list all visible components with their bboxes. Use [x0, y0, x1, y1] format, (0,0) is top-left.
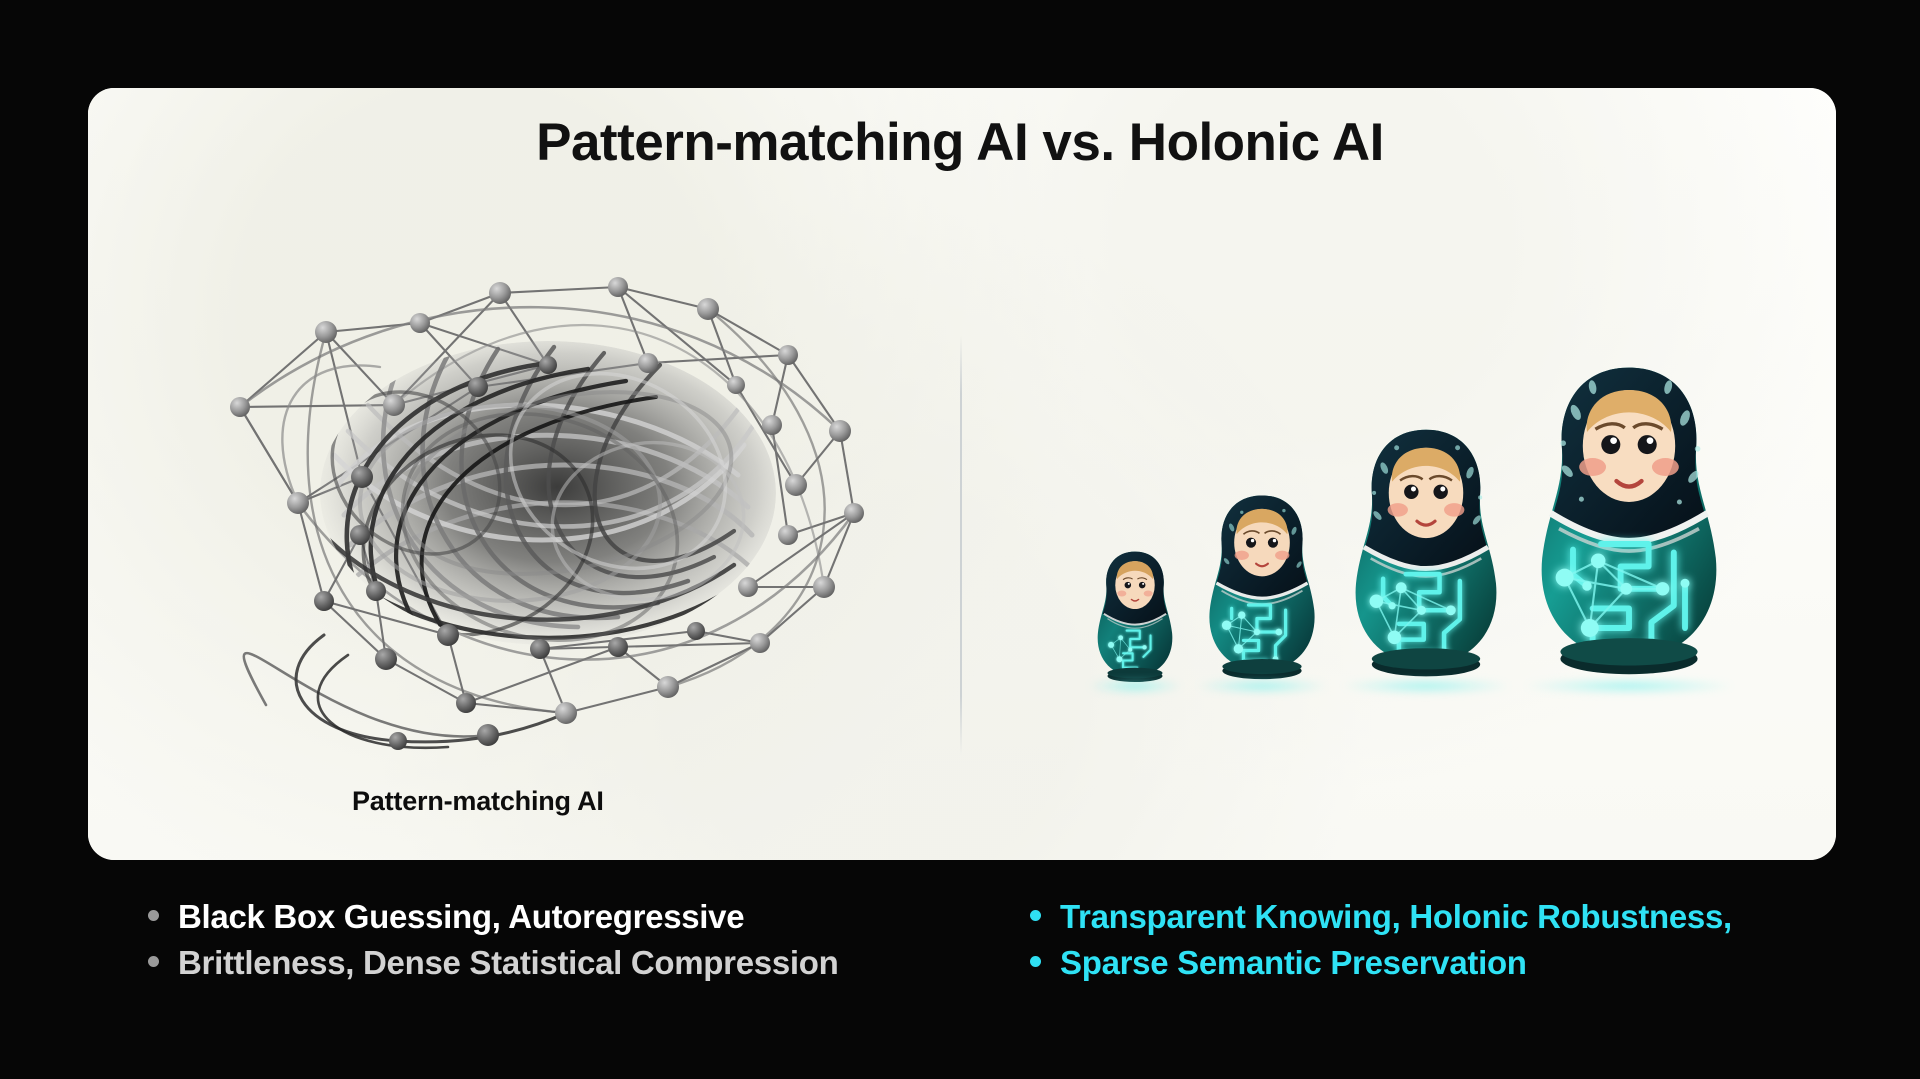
- bullet-right-1-text: Transparent Knowing, Holonic Robustness,: [1060, 894, 1732, 940]
- matryoshka-row: [1000, 250, 1820, 710]
- slide-root: Pattern-matching AI vs. Holonic AI: [0, 0, 1920, 1079]
- matryoshka-doll-1: [1093, 548, 1177, 688]
- bullet-left-1-text: Black Box Guessing, Autoregressive: [178, 894, 744, 940]
- bullet-dot-icon: [148, 956, 159, 967]
- bullets-right: Transparent Knowing, Holonic Robustness,…: [1030, 894, 1860, 986]
- right-panel: [1000, 250, 1820, 710]
- bullet-dot-icon: [1030, 910, 1041, 921]
- matryoshka-doll-3: [1347, 422, 1505, 688]
- tangled-network-icon: [148, 235, 908, 755]
- matryoshka-doll-4: [1531, 358, 1727, 688]
- left-panel: [88, 200, 948, 860]
- bullet-right-1: Transparent Knowing, Holonic Robustness,: [1030, 894, 1860, 940]
- bullet-dot-icon: [148, 910, 159, 921]
- bullet-left-1: Black Box Guessing, Autoregressive: [148, 894, 978, 940]
- bullet-left-2: Brittleness, Dense Statistical Compressi…: [148, 940, 978, 986]
- bullet-left-2-text: Brittleness, Dense Statistical Compressi…: [178, 940, 838, 986]
- bullets-left: Black Box Guessing, Autoregressive Britt…: [148, 894, 978, 986]
- page-title: Pattern-matching AI vs. Holonic AI: [0, 112, 1920, 173]
- bullet-dot-icon: [1030, 956, 1041, 967]
- left-panel-caption: Pattern-matching AI: [352, 786, 604, 817]
- matryoshka-doll-2: [1203, 490, 1321, 688]
- bullet-right-2: Sparse Semantic Preservation: [1030, 940, 1860, 986]
- panel-divider: [960, 335, 962, 755]
- bullet-right-2-text: Sparse Semantic Preservation: [1060, 940, 1527, 986]
